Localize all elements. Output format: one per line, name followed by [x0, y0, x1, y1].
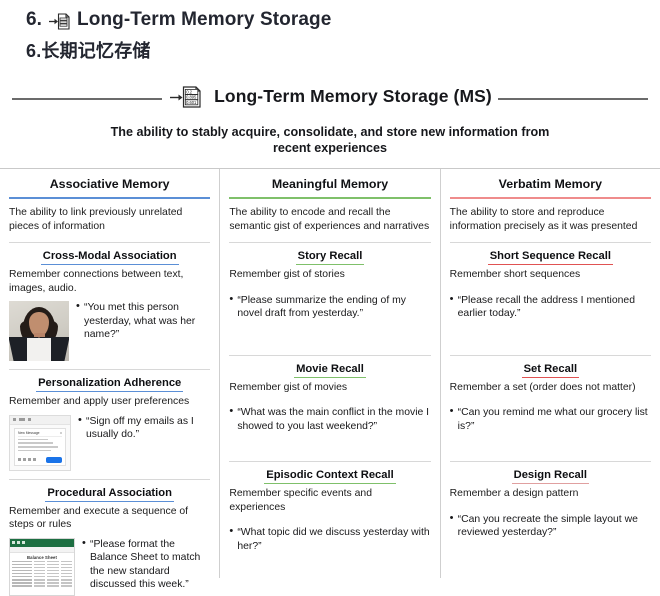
spreadsheet-title: Balance Sheet	[10, 553, 74, 561]
section-set-recall: Set Recall Remember a set (order does no…	[450, 355, 651, 434]
section-description: Remember gist of stories	[229, 268, 430, 282]
document-arrow-icon	[49, 11, 71, 31]
column-associative-memory: Associative Memory The ability to link p…	[0, 169, 219, 578]
section-design-recall: Design Recall Remember a design pattern …	[450, 461, 651, 540]
section-cross-modal-association: Cross-Modal Association Remember connect…	[9, 242, 210, 361]
banner-subtitle: The ability to stably acquire, consolida…	[95, 124, 565, 156]
column-accent-bar	[450, 197, 651, 199]
section-title: Design Recall	[512, 469, 589, 484]
column-accent-bar	[229, 197, 430, 199]
section-title: Set Recall	[522, 363, 579, 378]
section-quote: “What was the main conflict in the movie…	[229, 406, 430, 433]
spreadsheet-thumbnail: Balance Sheet	[9, 538, 75, 596]
section-episodic-context-recall: Episodic Context Recall Remember specifi…	[229, 461, 430, 553]
section-quote: “Please summarize the ending of my novel…	[229, 294, 430, 321]
column-description: The ability to link previously unrelated…	[9, 206, 210, 234]
section-title: Procedural Association	[45, 487, 174, 502]
section-quote: “You met this person yesterday, what was…	[76, 301, 210, 342]
section-short-sequence-recall: Short Sequence Recall Remember short seq…	[450, 242, 651, 321]
section-description: Remember specific events and experiences	[229, 487, 430, 514]
section-quote: “Can you remind me what our grocery list…	[450, 406, 651, 433]
section-quote: “Can you recreate the simple layout we r…	[450, 513, 651, 540]
section-title: Short Sequence Recall	[488, 250, 613, 265]
icon-value-2: 0.601	[186, 100, 197, 105]
section-description: Remember connections between text, image…	[9, 268, 210, 295]
column-accent-bar	[9, 197, 210, 199]
section-quote: “Please format the Balance Sheet to matc…	[82, 538, 210, 592]
section-title: Personalization Adherence	[36, 377, 183, 392]
column-description: The ability to encode and recall the sem…	[229, 206, 430, 234]
email-compose-thumbnail: New Message□	[9, 415, 71, 471]
section-personalization-adherence: Personalization Adherence Remember and a…	[9, 369, 210, 471]
section-story-recall: Story Recall Remember gist of stories “P…	[229, 242, 430, 321]
column-verbatim-memory: Verbatim Memory The ability to store and…	[440, 169, 660, 578]
banner: 0.2 0.895 0.601 Long-Term Memory Storage…	[0, 83, 660, 117]
section-quote: “What topic did we discuss yesterday wit…	[229, 526, 430, 553]
portrait-photo-thumbnail	[9, 301, 69, 361]
column-meaningful-memory: Meaningful Memory The ability to encode …	[219, 169, 439, 578]
page-title-english: 6. Long-Term Memory Storage	[26, 7, 660, 33]
category-columns: Associative Memory The ability to link p…	[0, 168, 660, 578]
section-quote: “Please recall the address I mentioned e…	[450, 294, 651, 321]
column-title: Verbatim Memory	[450, 169, 651, 197]
page-title-chinese: 6.长期记忆存储	[26, 37, 660, 63]
document-values-icon: 0.2 0.895 0.601	[170, 84, 204, 110]
section-quote: “Sign off my emails as I usually do.”	[78, 415, 210, 442]
section-description: Remember a set (order does not matter)	[450, 381, 651, 395]
column-title: Associative Memory	[9, 169, 210, 197]
send-button	[46, 457, 62, 463]
section-procedural-association: Procedural Association Remember and exec…	[9, 479, 210, 596]
column-description: The ability to store and reproduce infor…	[450, 206, 651, 234]
section-title: Movie Recall	[294, 363, 366, 378]
section-title: Episodic Context Recall	[264, 469, 395, 484]
banner-title: Long-Term Memory Storage (MS)	[214, 86, 492, 107]
section-description: Remember a design pattern	[450, 487, 651, 501]
page-title-text: Long-Term Memory Storage	[77, 9, 331, 31]
section-description: Remember short sequences	[450, 268, 651, 282]
section-movie-recall: Movie Recall Remember gist of movies “Wh…	[229, 355, 430, 434]
section-number: 6.	[26, 9, 42, 31]
section-description: Remember and apply user preferences	[9, 395, 210, 409]
section-description: Remember gist of movies	[229, 381, 430, 395]
section-title: Story Recall	[296, 250, 365, 265]
section-description: Remember and execute a sequence of steps…	[9, 505, 210, 532]
page-header: 6. Long-Term Memory Storage 6.长期记忆存储	[0, 0, 660, 63]
section-title: Cross-Modal Association	[41, 250, 179, 265]
column-title: Meaningful Memory	[229, 169, 430, 197]
